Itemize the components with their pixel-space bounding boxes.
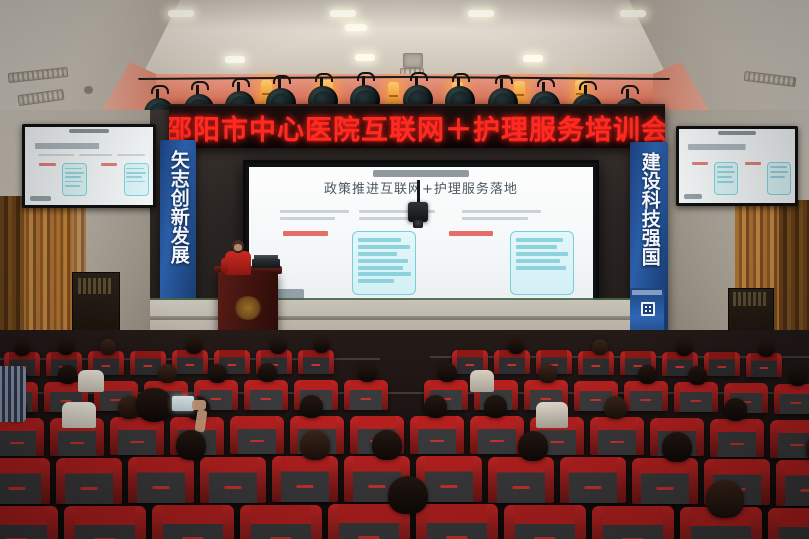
attendee-striped-shirt <box>0 366 26 422</box>
camera-mount-pole <box>417 180 420 204</box>
slide-footer-tag <box>30 196 50 201</box>
seat <box>110 417 164 455</box>
side-monitor-left-screen <box>25 127 153 205</box>
floor-banner-header <box>632 290 662 295</box>
seat <box>128 457 194 503</box>
slide-subtext-line <box>280 210 349 213</box>
slide-content-box <box>714 162 738 195</box>
slide-content-box-right <box>510 231 574 295</box>
slide-title: 政策推进互联网+护理服务落地 <box>277 178 566 197</box>
slide-red-label-left <box>283 231 328 236</box>
speaker-torso <box>225 251 251 275</box>
seat <box>632 458 698 504</box>
ceiling-downlight <box>523 55 543 62</box>
seat <box>770 420 809 458</box>
attendee-head <box>758 341 774 357</box>
slide-text-line <box>117 154 145 157</box>
seat <box>0 418 44 456</box>
slide-subtext-line <box>280 217 335 220</box>
slide-header-bar <box>69 129 110 133</box>
laptop <box>252 259 280 268</box>
ceiling-downlight <box>345 24 367 31</box>
slide-red-label <box>39 163 56 166</box>
conference-hall-photo: 邵阳市中心医院互联网＋护理服务培训会 政策推进互联网+护理服务落地 <box>0 0 809 539</box>
slide-content-box-left <box>352 231 416 295</box>
seat <box>0 506 58 539</box>
seat <box>344 380 388 410</box>
attendee-head <box>518 431 548 461</box>
attendee-shirt <box>62 402 96 428</box>
seat <box>776 460 809 506</box>
attendee-head <box>484 395 507 418</box>
attendee-head <box>638 365 657 384</box>
attendee-shirt <box>470 370 494 392</box>
attendee-head <box>314 338 329 353</box>
ceiling-downlight <box>355 54 375 61</box>
attendee-head <box>208 364 227 383</box>
attendee-head <box>662 432 692 462</box>
slide-red-label <box>692 162 708 165</box>
ceiling-downlight <box>620 10 646 17</box>
seat <box>200 457 266 503</box>
slide-subtext-line <box>462 210 541 213</box>
cabinet-grille-right <box>733 292 767 306</box>
seat <box>298 350 334 374</box>
led-banner-text: 邵阳市中心医院互联网＋护理服务培训会 <box>169 108 665 147</box>
slide-footer-tag <box>684 194 703 199</box>
attendee-head-with-phone <box>136 388 172 422</box>
attendee-head <box>538 364 557 383</box>
attendee-head <box>788 367 807 386</box>
attendee-head <box>372 430 402 460</box>
seat <box>674 382 718 412</box>
cabinet-grille-left <box>78 278 112 294</box>
ceiling-camera <box>408 202 428 222</box>
seat <box>410 416 464 454</box>
attendee-head <box>706 480 744 518</box>
seat <box>64 506 146 539</box>
attendee-head <box>186 338 202 354</box>
attendee-hand <box>192 400 206 410</box>
side-monitor-right <box>676 126 798 206</box>
seat <box>768 508 809 539</box>
attendee-head <box>724 398 747 421</box>
right-vertical-banner-text: 建设科技强国 <box>638 152 659 266</box>
projection-screen-surface: 政策推进互联网+护理服务落地 <box>249 167 593 309</box>
seat <box>416 504 498 539</box>
audience-seating-area <box>0 330 809 539</box>
slide-title-line <box>688 144 781 150</box>
slide-text-line <box>79 154 112 157</box>
slide-red-label-right <box>449 231 494 236</box>
attendee-head <box>604 396 627 419</box>
seat <box>56 458 122 504</box>
lighting-truss <box>138 72 670 86</box>
attendee-shirt <box>536 402 568 428</box>
seat <box>244 380 288 410</box>
ceiling-downlight <box>225 56 245 63</box>
attendee-head <box>158 364 177 383</box>
floor-banner-logo-icon <box>641 302 655 316</box>
ceiling-downlight <box>468 10 494 17</box>
ceiling-downlight <box>330 10 356 17</box>
attendee-head <box>388 476 428 514</box>
speaker-arm <box>221 258 228 273</box>
ceiling-speaker <box>84 86 93 94</box>
attendee-shirt <box>78 370 104 392</box>
seat <box>230 416 284 454</box>
slide-content-box <box>62 163 87 196</box>
podium-emblem <box>233 296 263 320</box>
seat <box>592 506 674 539</box>
seat <box>704 352 740 376</box>
seat <box>0 458 50 504</box>
attendee-head <box>508 338 524 354</box>
seat <box>470 416 524 454</box>
attendee-head <box>424 395 447 418</box>
slide-header-bar <box>718 131 755 135</box>
attendee-head <box>176 430 206 460</box>
attendee-head <box>688 366 707 385</box>
attendee-head <box>258 363 277 382</box>
attendee-head <box>58 365 77 384</box>
attendee-head <box>300 395 323 418</box>
slide-red-label <box>101 163 118 166</box>
seat <box>152 505 234 539</box>
seat <box>504 505 586 539</box>
projection-screen: 政策推进互联网+护理服务落地 <box>243 160 599 320</box>
seat <box>560 457 626 503</box>
attendee-head <box>14 340 30 356</box>
attendee-head <box>58 339 74 355</box>
attendee-head <box>438 363 457 382</box>
led-banner: 邵阳市中心医院互联网＋护理服务培训会 <box>169 104 665 148</box>
slide-red-label <box>745 162 761 165</box>
left-vertical-banner-text: 矢志创新发展 <box>167 150 188 264</box>
attendee-head <box>676 340 692 356</box>
ceiling-downlight <box>168 10 194 17</box>
slide-content-box <box>767 162 791 195</box>
seat <box>774 384 809 414</box>
attendee-head <box>100 339 116 355</box>
seat <box>590 417 644 455</box>
seat <box>272 456 338 502</box>
side-monitor-left <box>22 124 156 208</box>
slide-content-box <box>124 163 149 196</box>
attendee-head <box>592 339 608 355</box>
seat <box>240 505 322 539</box>
seat <box>624 381 668 411</box>
truss-bar <box>138 76 670 80</box>
side-monitor-right-screen <box>679 129 795 203</box>
attendee-head <box>358 363 377 382</box>
attendee-head <box>270 338 286 354</box>
camera-lens-icon <box>413 220 423 228</box>
slide-text-line <box>38 154 74 157</box>
attendee-head <box>300 430 330 460</box>
slide-header-bar <box>373 170 469 177</box>
ceiling-panel-box <box>403 53 423 68</box>
smartphone <box>172 396 194 411</box>
slide-subtext-line <box>462 217 527 220</box>
slide-title-line <box>35 143 137 149</box>
speaker-face <box>234 244 242 251</box>
seat <box>710 419 764 457</box>
seat <box>488 457 554 503</box>
